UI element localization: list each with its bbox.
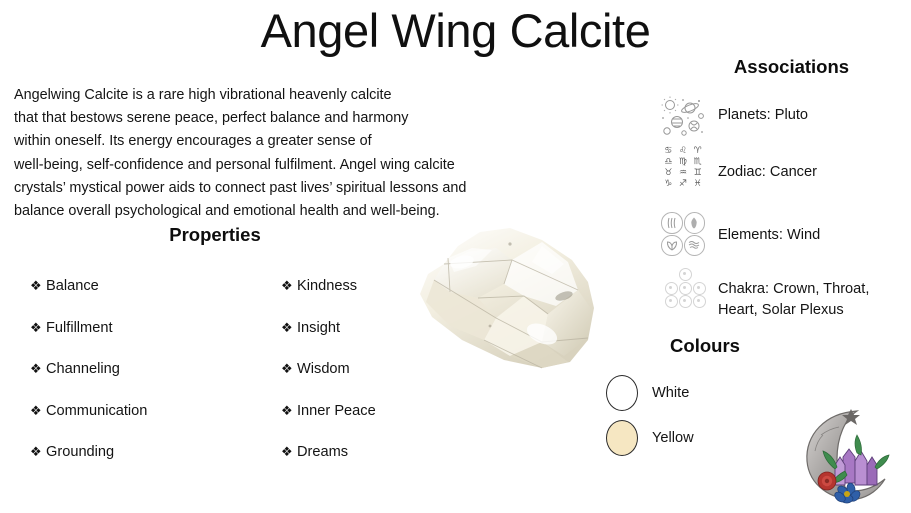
- association-label: Chakra: Crown, Throat, Heart, Solar Plex…: [707, 268, 893, 321]
- bullet-diamond-icon: ❖: [30, 403, 46, 420]
- association-row-chakra: Chakra: Crown, Throat, Heart, Solar Plex…: [661, 268, 893, 321]
- zodiac-glyph: ♏: [690, 157, 705, 168]
- associations-heading: Associations: [672, 56, 911, 78]
- properties-heading: Properties: [95, 224, 335, 246]
- bullet-diamond-icon: ❖: [281, 361, 297, 378]
- property-label: Communication: [46, 403, 147, 420]
- chakra-dot: [693, 295, 706, 308]
- calcite-specimen-image: [392, 222, 620, 382]
- property-label: Kindness: [297, 278, 357, 295]
- colour-label: Yellow: [638, 430, 694, 446]
- property-label: Channeling: [46, 361, 120, 378]
- intro-line: crystals’ mystical power aids to connect…: [14, 177, 534, 200]
- intro-line: that that bestows serene peace, perfect …: [14, 107, 534, 130]
- colour-row-yellow: Yellow: [606, 420, 694, 456]
- association-label: Zodiac: Cancer: [707, 146, 817, 183]
- zodiac-glyph: ♉: [661, 168, 676, 179]
- zodiac-glyph: ♓: [690, 179, 705, 190]
- association-row-planets: Planets: Pluto: [661, 96, 808, 142]
- property-label: Dreams: [297, 444, 348, 461]
- property-label: Wisdom: [297, 361, 350, 378]
- intro-line: Angelwing Calcite is a rare high vibrati…: [14, 84, 534, 107]
- bullet-diamond-icon: ❖: [281, 278, 297, 295]
- property-item: ❖ Balance: [30, 278, 260, 295]
- intro-line: well-being, self-confidence and personal…: [14, 154, 534, 177]
- colours-heading: Colours: [600, 335, 810, 357]
- properties-left-column: ❖ Balance ❖ Fulfillment ❖ Channeling ❖ C…: [30, 278, 260, 486]
- bullet-diamond-icon: ❖: [281, 403, 297, 420]
- property-item: ❖ Fulfillment: [30, 320, 260, 337]
- zodiac-glyph: ♒: [676, 168, 691, 179]
- property-label: Inner Peace: [297, 403, 376, 420]
- property-item: ❖ Inner Peace: [281, 403, 511, 420]
- element-water-icon: [684, 235, 706, 257]
- element-wind-icon: [661, 212, 683, 234]
- chakra-dot: [679, 282, 692, 295]
- zodiac-icon: ♋ ♌ ♈ ♎ ♍ ♏ ♉ ♒ ♊ ♑ ♐ ♓: [661, 146, 707, 192]
- page-title: Angel Wing Calcite: [0, 2, 911, 60]
- chakra-dot: [679, 268, 692, 281]
- zodiac-glyph: ♌: [676, 146, 691, 157]
- colour-swatch-white: [606, 375, 638, 411]
- bullet-diamond-icon: ❖: [30, 320, 46, 337]
- property-item: ❖ Channeling: [30, 361, 260, 378]
- association-row-zodiac: ♋ ♌ ♈ ♎ ♍ ♏ ♉ ♒ ♊ ♑ ♐ ♓ Zodiac: Cancer: [661, 146, 817, 192]
- property-item: ❖ Communication: [30, 403, 260, 420]
- property-item: ❖ Grounding: [30, 444, 260, 461]
- elements-icon: [661, 212, 707, 258]
- association-label: Planets: Pluto: [707, 96, 808, 126]
- property-item: ❖ Dreams: [281, 444, 511, 461]
- bullet-diamond-icon: ❖: [30, 361, 46, 378]
- element-earth-icon: [661, 235, 683, 257]
- element-fire-icon: [684, 212, 706, 234]
- property-label: Insight: [297, 320, 340, 337]
- intro-paragraph: Angelwing Calcite is a rare high vibrati…: [14, 84, 534, 223]
- intro-line: balance overall psychological and emotio…: [14, 200, 534, 223]
- chakra-icon: [661, 268, 707, 314]
- zodiac-glyph: ♐: [676, 179, 691, 190]
- colour-label: White: [638, 385, 689, 401]
- chakra-dot: [679, 295, 692, 308]
- zodiac-glyph: ♍: [676, 157, 691, 168]
- zodiac-glyph: ♈: [690, 146, 705, 157]
- chakra-dot: [665, 282, 678, 295]
- zodiac-glyph: ♊: [690, 168, 705, 179]
- bullet-diamond-icon: ❖: [30, 278, 46, 295]
- property-label: Grounding: [46, 444, 114, 461]
- bullet-diamond-icon: ❖: [281, 444, 297, 461]
- intro-line: within oneself. Its energy encourages a …: [14, 130, 534, 153]
- chakra-dot: [693, 282, 706, 295]
- planets-icon: [661, 96, 707, 142]
- bullet-diamond-icon: ❖: [30, 444, 46, 461]
- zodiac-glyph: ♋: [661, 146, 676, 157]
- chakra-dot: [665, 295, 678, 308]
- property-label: Fulfillment: [46, 320, 113, 337]
- crescent-moon-crystals-logo: [795, 405, 899, 505]
- association-label: Elements: Wind: [707, 212, 820, 246]
- colour-swatch-yellow: [606, 420, 638, 456]
- colour-row-white: White: [606, 375, 689, 411]
- property-label: Balance: [46, 278, 99, 295]
- bullet-diamond-icon: ❖: [281, 320, 297, 337]
- zodiac-glyph: ♎: [661, 157, 676, 168]
- zodiac-glyph: ♑: [661, 179, 676, 190]
- association-row-elements: Elements: Wind: [661, 212, 820, 258]
